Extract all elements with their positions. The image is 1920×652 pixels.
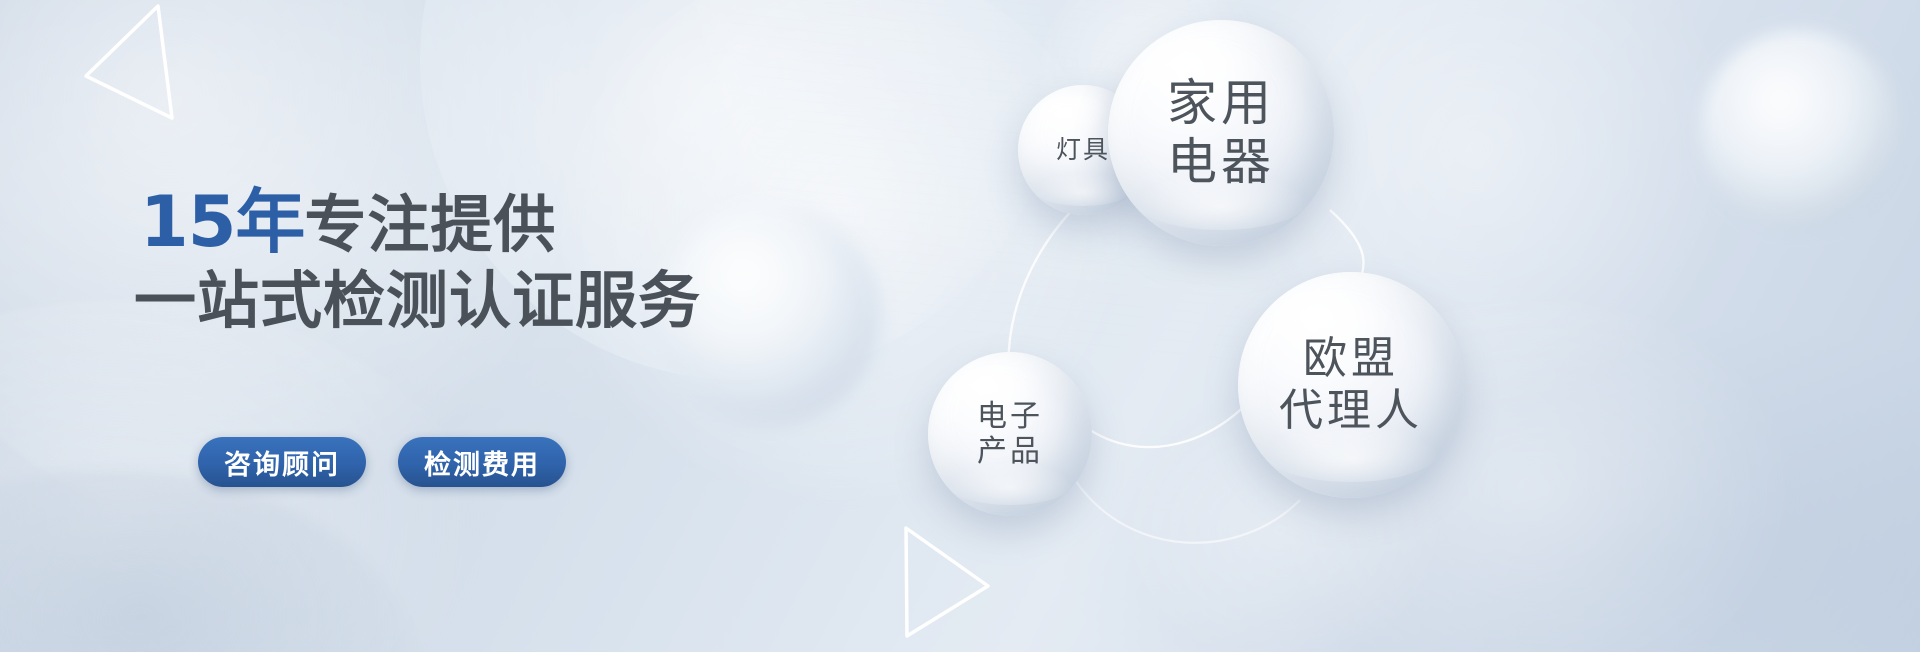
bubble-home-appliance-label-1: 家用 bbox=[1167, 74, 1275, 133]
bubble-eu-representative[interactable]: 欧盟 代理人 bbox=[1238, 272, 1464, 498]
headline-line-2: 一站式检测认证服务 bbox=[134, 265, 860, 337]
headline-line-1: 15年专注提供 bbox=[140, 182, 860, 263]
bubble-lamp-label-1: 灯具 bbox=[1056, 135, 1110, 165]
category-bubble-cluster: 灯具 家用 电器 欧盟 代理人 电子 产品 bbox=[900, 0, 1920, 652]
promo-banner: 15年专注提供 一站式检测认证服务 咨询顾问 检测费用 灯具 家用 电器 欧盟 … bbox=[0, 0, 1920, 652]
bubble-electronics[interactable]: 电子 产品 bbox=[928, 352, 1092, 516]
bubble-eu-representative-label-1: 欧盟 bbox=[1303, 333, 1399, 385]
consult-advisor-button[interactable]: 咨询顾问 bbox=[198, 437, 366, 487]
bubble-home-appliance-label-2: 电器 bbox=[1167, 133, 1275, 192]
bubble-electronics-label-2: 产品 bbox=[977, 434, 1043, 469]
bubble-home-appliance[interactable]: 家用 电器 bbox=[1108, 20, 1334, 246]
headline-block: 15年专注提供 一站式检测认证服务 bbox=[140, 182, 860, 337]
background-blob-f bbox=[0, 470, 420, 652]
testing-fee-button[interactable]: 检测费用 bbox=[398, 437, 566, 487]
bubble-eu-representative-label-2: 代理人 bbox=[1279, 385, 1423, 437]
cta-button-row: 咨询顾问 检测费用 bbox=[198, 437, 566, 487]
headline-line-1-rest: 专注提供 bbox=[304, 188, 556, 261]
triangle-outline-icon bbox=[70, 2, 180, 129]
headline-accent-years: 15年 bbox=[140, 181, 304, 263]
bubble-electronics-label-1: 电子 bbox=[977, 399, 1043, 434]
